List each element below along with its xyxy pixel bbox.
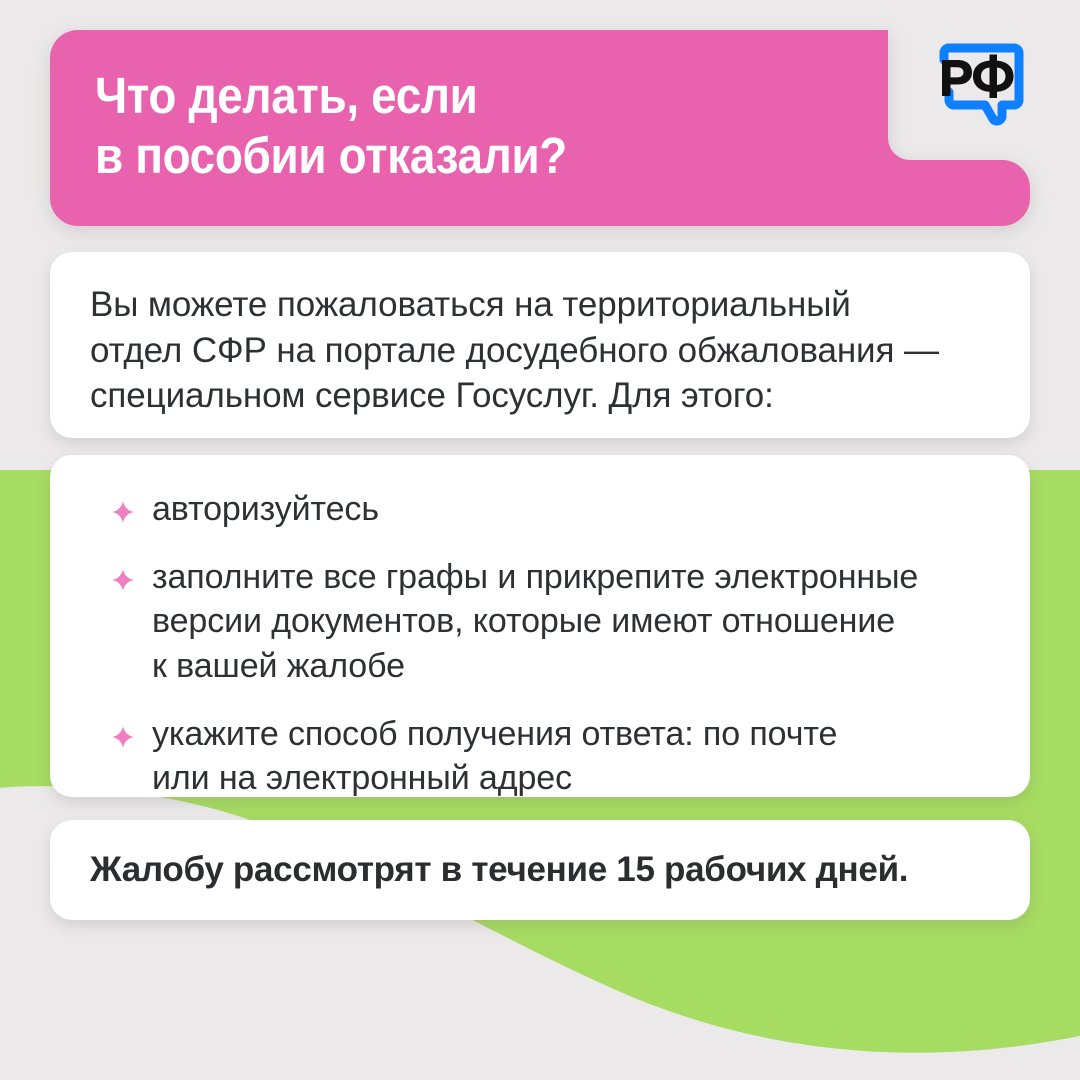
list-item-text: авторизуйтесь bbox=[152, 487, 379, 531]
list-item: авторизуйтесь bbox=[90, 487, 990, 531]
rf-logo-icon: РФ bbox=[928, 34, 1024, 130]
list-item-text: укажите способ получения ответа: по почт… bbox=[152, 712, 837, 800]
steps-list: авторизуйтесь заполните все графы и прик… bbox=[90, 487, 990, 800]
list-item: укажите способ получения ответа: по почт… bbox=[90, 712, 990, 800]
diamond-sparkle-icon bbox=[112, 501, 134, 523]
intro-text: Вы можете пожаловаться на территориальны… bbox=[90, 282, 986, 419]
header-card: Что делать, если в пособии отказали? bbox=[50, 30, 1030, 226]
diamond-sparkle-icon bbox=[112, 569, 134, 591]
list-item-text: заполните все графы и прикрепите электро… bbox=[152, 555, 918, 688]
diamond-sparkle-icon bbox=[112, 726, 134, 748]
intro-card: Вы можете пожаловаться на территориальны… bbox=[50, 252, 1030, 438]
list-item: заполните все графы и прикрепите электро… bbox=[90, 555, 990, 688]
note-card: Жалобу рассмотрят в течение 15 рабочих д… bbox=[50, 820, 1030, 920]
infographic-poster: Что делать, если в пособии отказали? РФ … bbox=[0, 0, 1080, 1080]
page-title: Что делать, если в пособии отказали? bbox=[95, 66, 806, 185]
note-text: Жалобу рассмотрят в течение 15 рабочих д… bbox=[90, 850, 908, 890]
steps-card: авторизуйтесь заполните все графы и прик… bbox=[50, 455, 1030, 797]
